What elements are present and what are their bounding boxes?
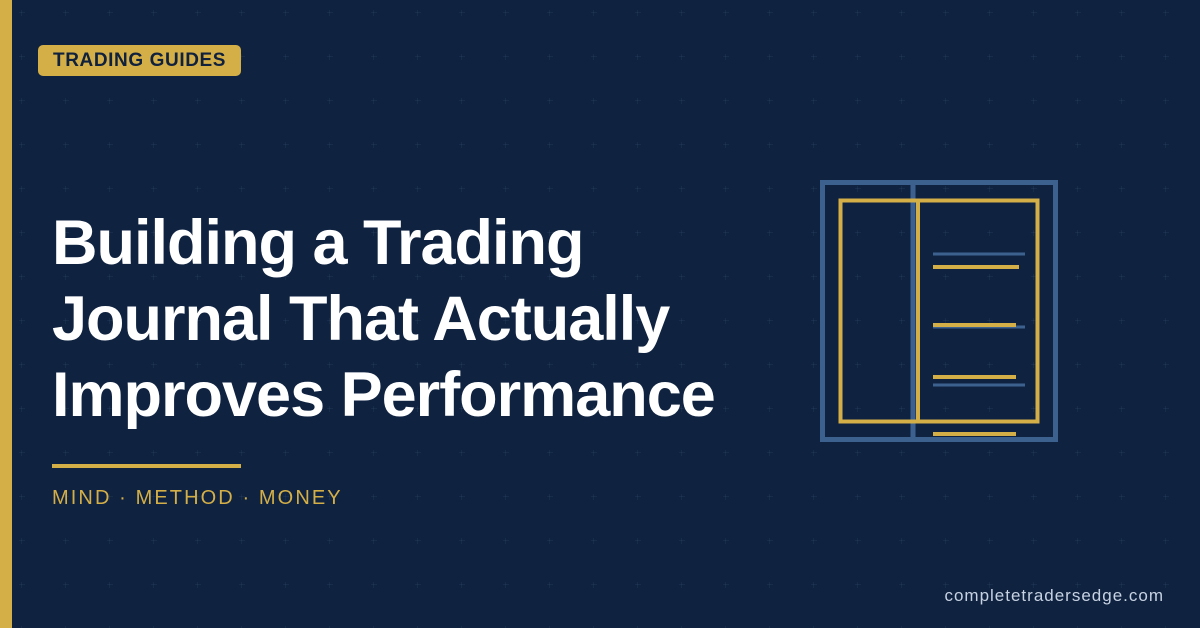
headline-line-3: Improves Performance xyxy=(52,357,812,433)
left-accent-bar xyxy=(0,0,12,628)
headline-line-2: Journal That Actually xyxy=(52,281,812,357)
category-badge[interactable]: TRADING GUIDES xyxy=(38,45,241,76)
page-title: Building a Trading Journal That Actually… xyxy=(52,205,812,433)
gold-divider-rule xyxy=(52,464,241,468)
category-badge-label: TRADING GUIDES xyxy=(53,51,226,70)
open-book-icon xyxy=(820,180,1058,442)
promo-banner: TRADING GUIDES Building a Trading Journa… xyxy=(0,0,1200,628)
tagline: MIND · METHOD · MONEY xyxy=(52,487,343,510)
website-url: completetradersedge.com xyxy=(944,586,1164,606)
headline-line-1: Building a Trading xyxy=(52,205,812,281)
